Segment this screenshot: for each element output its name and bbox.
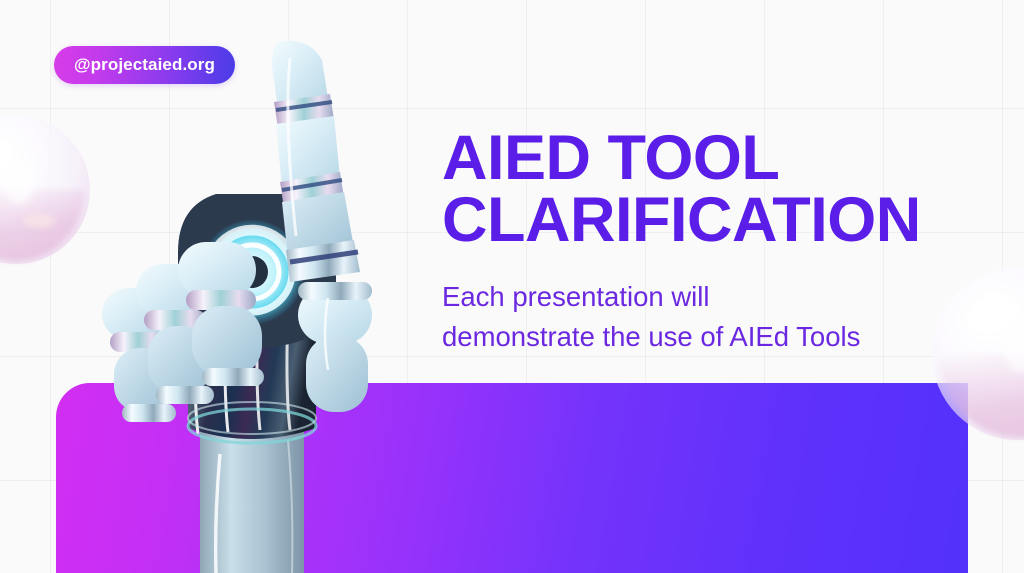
handle-badge[interactable]: @projectaied.org [54, 46, 235, 84]
page-subtitle: Each presentation will demonstrate the u… [442, 277, 982, 355]
handle-badge-label: @projectaied.org [74, 55, 215, 75]
page-title: AIED TOOL CLARIFICATION [442, 128, 982, 251]
slide-text-block: AIED TOOL CLARIFICATION Each presentatio… [442, 128, 982, 356]
soap-bubble-left-icon [0, 116, 90, 264]
robot-hand-illustration [92, 36, 412, 573]
presentation-slide: @projectaied.org AIED TOOL CLARIFICATION… [0, 0, 1024, 573]
